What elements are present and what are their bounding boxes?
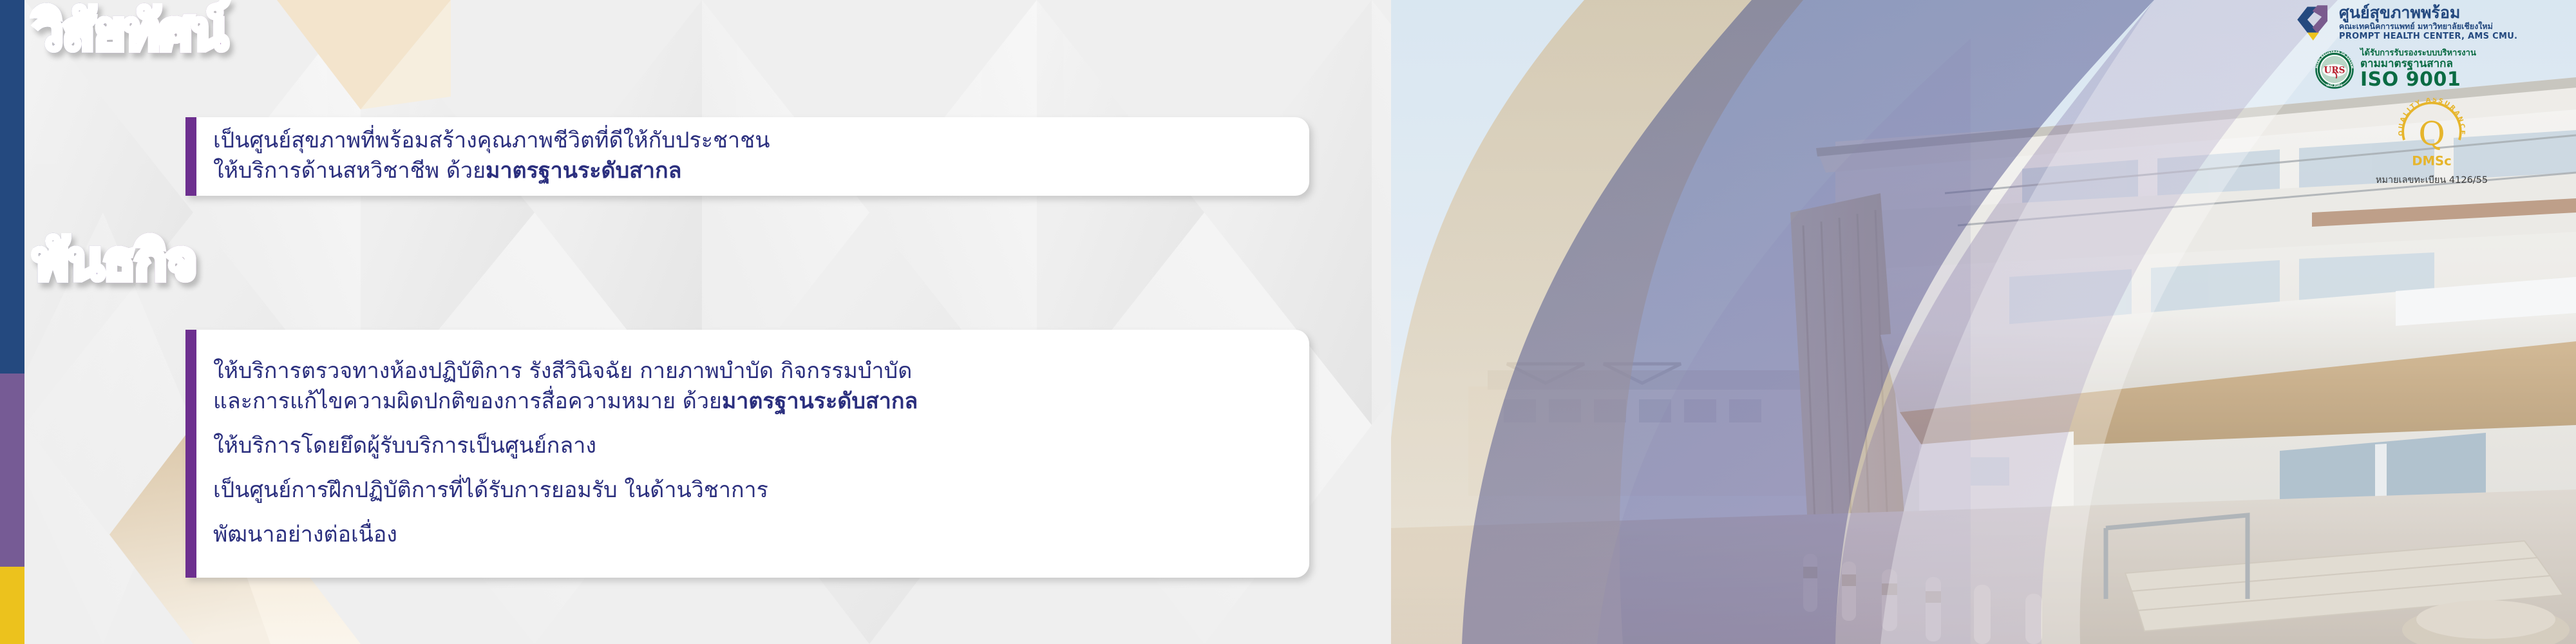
vision-line-2-emphasis: มาตรฐานระดับสากล (486, 158, 681, 184)
brand-title: ศูนย์สุขภาพพร้อม (2339, 5, 2517, 21)
mission-line-1-text: ให้บริการตรวจทางห้องปฏิบัติการ รังสีวินิ… (213, 358, 912, 384)
mission-line-3: ให้บริการโดยยึดผู้รับบริการเป็นศูนย์กลาง (213, 431, 1283, 461)
svg-text:ISO 9001: ISO 9001 (2326, 84, 2343, 88)
urs-seal-icon: URS UNITED REGISTRAR OF SYSTEMS ISO 9001 (2315, 50, 2354, 90)
vision-heading: วิสัยทัศน์ (33, 5, 227, 58)
svg-text:URS: URS (2324, 66, 2345, 76)
mission-line-1: ให้บริการตรวจทางห้องปฏิบัติการ รังสีวินิ… (213, 356, 1283, 386)
iso-line-3: ISO 9001 (2360, 70, 2476, 90)
mission-line-2: และการแก้ไขความผิดปกติของการสื่อความหมาย… (213, 386, 1283, 417)
vision-heading-text: วิสัยทัศน์ (33, 1, 227, 62)
vision-line-2: ให้บริการด้านสหวิชาชีพ ด้วยมาตรฐานระดับส… (213, 156, 1283, 186)
dmsc-quality-assurance-seal-icon: QUALITY ASSURANCE Q DMSc (2396, 98, 2468, 170)
rail-segment-yellow (0, 567, 24, 644)
mission-line-2-text: และการแก้ไขความผิดปกติของการสื่อความหมาย… (213, 388, 722, 414)
brand-subtitle-en: PROMPT HEALTH CENTER, AMS CMU. (2339, 32, 2517, 41)
mission-block-2: ให้บริการโดยยึดผู้รับบริการเป็นศูนย์กลาง (213, 431, 1283, 461)
brand-subtitle-th: คณะเทคนิคการแพทย์ มหาวิทยาลัยเชียงใหม่ (2339, 23, 2517, 31)
brand-lockup: ศูนย์สุขภาพพร้อม คณะเทคนิคการแพทย์ มหาวิ… (2297, 4, 2567, 41)
left-color-rail (0, 0, 24, 644)
svg-text:Q: Q (2418, 115, 2445, 153)
brand-text-group: ศูนย์สุขภาพพร้อม คณะเทคนิคการแพทย์ มหาวิ… (2339, 5, 2517, 41)
mission-block-3: เป็นศูนย์การฝึกปฏิบัติการที่ได้รับการยอม… (213, 475, 1283, 506)
svg-text:DMSc: DMSc (2412, 154, 2452, 169)
banner-root: วิสัยทัศน์ พันธกิจ เป็นศูนย์สุขภาพที่พร้… (0, 0, 2576, 644)
mission-card-body: ให้บริการตรวจทางห้องปฏิบัติการ รังสีวินิ… (196, 330, 1309, 578)
mission-line-5-text: พัฒนาอย่างต่อเนื่อง (213, 522, 397, 547)
vision-line-2-text: ให้บริการด้านสหวิชาชีพ ด้วย (213, 158, 486, 184)
rail-segment-purple (0, 374, 24, 567)
vision-card-body: เป็นศูนย์สุขภาพที่พร้อมสร้างคุณภาพชีวิตท… (196, 117, 1309, 196)
mission-line-5: พัฒนาอย่างต่อเนื่อง (213, 520, 1283, 550)
mission-card: ให้บริการตรวจทางห้องปฏิบัติการ รังสีวินิ… (185, 330, 1309, 578)
brand-certification-stack: ศูนย์สุขภาพพร้อม คณะเทคนิคการแพทย์ มหาวิ… (2297, 4, 2567, 187)
mission-card-accent-bar (185, 330, 196, 578)
mission-line-4-text: เป็นศูนย์การฝึกปฏิบัติการที่ได้รับการยอม… (213, 477, 768, 503)
mission-line-3-text: ให้บริการโดยยึดผู้รับบริการเป็นศูนย์กลาง (213, 433, 596, 459)
prompt-health-center-logo-icon (2297, 4, 2333, 41)
iso-line-1: ได้รับการรับรองระบบบริหารงาน (2360, 49, 2476, 58)
mission-line-2-emphasis: มาตรฐานระดับสากล (722, 388, 918, 414)
mission-block-4: พัฒนาอย่างต่อเนื่อง (213, 520, 1283, 550)
mission-heading-text: พันธกิจ (33, 231, 196, 292)
mission-block-1: ให้บริการตรวจทางห้องปฏิบัติการ รังสีวินิ… (213, 356, 1283, 417)
mission-line-4: เป็นศูนย์การฝึกปฏิบัติการที่ได้รับการยอม… (213, 475, 1283, 506)
iso-text-group: ได้รับการรับรองระบบบริหารงาน ตามมาตรฐานส… (2360, 49, 2476, 90)
mission-heading: พันธกิจ (33, 235, 196, 288)
vision-card-accent-bar (185, 117, 196, 196)
registration-number: หมายเลขทะเบียน 4126/55 (2376, 173, 2488, 187)
iso-9001-badge: URS UNITED REGISTRAR OF SYSTEMS ISO 9001… (2297, 49, 2567, 90)
vision-line-1-text: เป็นศูนย์สุขภาพที่พร้อมสร้างคุณภาพชีวิตท… (213, 128, 770, 153)
rail-segment-blue (0, 0, 24, 374)
vision-line-1: เป็นศูนย์สุขภาพที่พร้อมสร้างคุณภาพชีวิตท… (213, 126, 1283, 156)
vision-card: เป็นศูนย์สุขภาพที่พร้อมสร้างคุณภาพชีวิตท… (185, 117, 1309, 196)
